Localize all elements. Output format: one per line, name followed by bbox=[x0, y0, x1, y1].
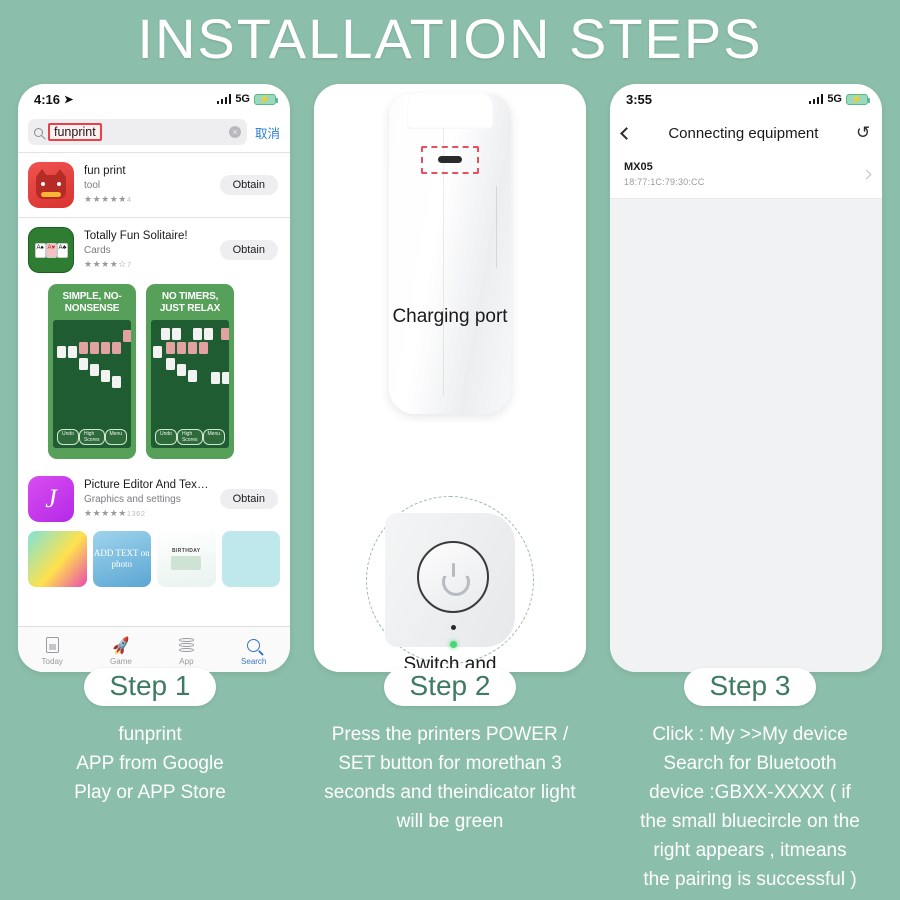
screenshot-button: Menu bbox=[203, 429, 226, 445]
power-button-highlight-circle bbox=[366, 496, 534, 664]
status-time: 3:55 bbox=[626, 92, 652, 107]
obtain-button[interactable]: Obtain bbox=[220, 489, 278, 509]
status-time: 4:16 bbox=[34, 92, 60, 107]
phone-screenshot-step1: 4:16 ➤ 5G ⚡ funprint × 取消 bbox=[18, 84, 290, 672]
step-column-3: Step 3 Click : My >>My device Search for… bbox=[600, 668, 900, 894]
preview-thumbnail[interactable]: BIRTHDAY bbox=[157, 531, 216, 587]
screenshot-button: Undo bbox=[57, 429, 79, 445]
app-subtitle: Graphics and settings bbox=[84, 493, 210, 507]
tab-today[interactable]: Today bbox=[42, 637, 63, 666]
status-bar-right: 5G ⚡ bbox=[809, 93, 868, 105]
charging-port-highlight-box bbox=[421, 146, 479, 174]
app-subtitle: Cards bbox=[84, 244, 210, 258]
rating-stars: ★★★★★4 bbox=[84, 193, 210, 206]
app-meta: Totally Fun Solitaire! Cards ★★★★☆7 bbox=[84, 229, 210, 271]
step-caption-1: funprint APP from Google Play or APP Sto… bbox=[5, 720, 295, 807]
list-item[interactable]: fun print tool ★★★★★4 Obtain bbox=[18, 153, 290, 217]
status-bar-right: 5G ⚡ bbox=[217, 93, 276, 105]
tab-game[interactable]: 🚀 Game bbox=[110, 637, 132, 666]
back-chevron-icon[interactable] bbox=[620, 127, 633, 140]
page-title: INSTALLATION STEPS bbox=[0, 6, 900, 71]
printer-side-seam bbox=[496, 186, 498, 268]
rocket-icon: 🚀 bbox=[110, 635, 131, 655]
power-icon bbox=[439, 563, 467, 591]
tab-label: Search bbox=[241, 657, 266, 666]
cancel-button[interactable]: 取消 bbox=[255, 123, 280, 142]
funprint-app-icon bbox=[28, 162, 74, 208]
tab-search[interactable]: Search bbox=[241, 637, 266, 666]
bluetooth-pairing-screen: Connecting equipment ↻ MX05 18:77:1C:79:… bbox=[610, 114, 882, 672]
search-query-value: funprint bbox=[48, 123, 102, 141]
tab-label: Game bbox=[110, 657, 132, 666]
signal-bars-icon bbox=[217, 94, 232, 104]
network-label: 5G bbox=[235, 93, 250, 105]
stack-icon bbox=[179, 637, 194, 654]
obtain-button[interactable]: Obtain bbox=[220, 175, 278, 195]
app-screenshot-previews: SIMPLE, NO-NONSENSE bbox=[18, 282, 290, 467]
rating-count: 1362 bbox=[127, 509, 146, 518]
nav-bar: Connecting equipment ↻ bbox=[610, 114, 882, 152]
status-bar: 3:55 5G ⚡ bbox=[610, 84, 882, 114]
tab-bar: Today 🚀 Game App Search bbox=[18, 626, 290, 672]
rating-stars: ★★★★★1362 bbox=[84, 507, 210, 520]
preview-thumbnail[interactable] bbox=[222, 531, 281, 587]
rating-count: 7 bbox=[127, 260, 132, 269]
status-bar-left: 4:16 ➤ bbox=[34, 92, 73, 107]
search-input[interactable]: funprint × bbox=[28, 119, 247, 145]
tab-app[interactable]: App bbox=[179, 637, 194, 666]
preview-thumbnail[interactable]: ADD TEXT on photo bbox=[93, 531, 152, 587]
signal-bars-icon bbox=[809, 94, 824, 104]
preview-thumbnail[interactable] bbox=[28, 531, 87, 587]
app-meta: Picture Editor And Text... Graphics and … bbox=[84, 478, 210, 520]
app-subtitle: tool bbox=[84, 179, 210, 193]
step-column-2: Step 2 Press the printers POWER / SET bu… bbox=[300, 668, 600, 894]
battery-charging-icon: ⚡ bbox=[254, 94, 276, 105]
step-badge-3: Step 3 bbox=[684, 668, 817, 706]
app-screenshot[interactable]: SIMPLE, NO-NONSENSE bbox=[48, 284, 136, 459]
nav-title: Connecting equipment bbox=[639, 125, 848, 142]
tab-label: Today bbox=[42, 657, 63, 666]
power-button[interactable] bbox=[417, 541, 489, 613]
app-name: Totally Fun Solitaire! bbox=[84, 229, 210, 244]
phone-screenshot-step3: 3:55 5G ⚡ Connecting equipment ↻ MX05 bbox=[610, 84, 882, 672]
chevron-right-icon bbox=[862, 170, 872, 180]
location-arrow-icon: ➤ bbox=[64, 93, 73, 106]
today-icon bbox=[46, 637, 59, 654]
power-indicator-led bbox=[450, 641, 457, 648]
screenshot-button: Menu bbox=[105, 429, 128, 445]
step-caption-3: Click : My >>My device Search for Blueto… bbox=[605, 720, 895, 894]
step-column-1: Step 1 funprint APP from Google Play or … bbox=[0, 668, 300, 894]
step-badge-1: Step 1 bbox=[84, 668, 217, 706]
battery-charging-icon: ⚡ bbox=[846, 94, 868, 105]
app-name: Picture Editor And Text... bbox=[84, 478, 210, 493]
printer-device-diagram: Charging port Switch and power indicator bbox=[314, 84, 586, 672]
app-name: fun print bbox=[84, 164, 210, 179]
printer-body bbox=[389, 94, 511, 414]
picture-editor-app-icon: J bbox=[28, 476, 74, 522]
screenshot-button: High Scores bbox=[79, 429, 105, 445]
device-mac-address: 18:77:1C:79:30:CC bbox=[624, 175, 863, 189]
rating-stars: ★★★★☆7 bbox=[84, 258, 210, 271]
obtain-button[interactable]: Obtain bbox=[220, 240, 278, 260]
screenshot-button: Undo bbox=[155, 429, 177, 445]
rating-count: 4 bbox=[127, 195, 132, 204]
screenshot-headline: SIMPLE, NO-NONSENSE bbox=[53, 291, 131, 315]
device-meta: MX05 18:77:1C:79:30:CC bbox=[624, 160, 863, 189]
reset-pinhole-icon bbox=[451, 625, 456, 630]
printer-top-cap bbox=[407, 93, 493, 129]
app-meta: fun print tool ★★★★★4 bbox=[84, 164, 210, 206]
screenshot-headline: NO TIMERS, JUST RELAX bbox=[151, 291, 229, 315]
preview-birthday-label: BIRTHDAY bbox=[172, 548, 201, 554]
phone-screenshot-step2: Charging port Switch and power indicator bbox=[314, 84, 586, 672]
tab-label: App bbox=[179, 657, 193, 666]
solitaire-app-icon: A♠A♥A♣ bbox=[28, 227, 74, 273]
search-icon bbox=[247, 637, 260, 654]
step-caption-2: Press the printers POWER / SET button fo… bbox=[305, 720, 595, 836]
solitaire-board: Undo High Scores Menu bbox=[151, 320, 229, 448]
installation-steps-infographic: INSTALLATION STEPS 4:16 ➤ 5G ⚡ bbox=[0, 0, 900, 900]
network-label: 5G bbox=[827, 93, 842, 105]
refresh-icon[interactable]: ↻ bbox=[856, 123, 870, 143]
search-icon bbox=[34, 128, 43, 137]
app-store-search-screen: funprint × 取消 fun print tool ★★★★★4 bbox=[18, 114, 290, 672]
list-item[interactable]: A♠A♥A♣ Totally Fun Solitaire! Cards ★★★★… bbox=[18, 218, 290, 282]
status-bar: 4:16 ➤ 5G ⚡ bbox=[18, 84, 290, 114]
app-preview-thumbnails: ADD TEXT on photo BIRTHDAY bbox=[18, 531, 290, 587]
screenshot-button: High Scores bbox=[177, 429, 203, 445]
clear-search-icon[interactable]: × bbox=[229, 126, 241, 138]
step-badge-2: Step 2 bbox=[384, 668, 517, 706]
step-captions-row: Step 1 funprint APP from Google Play or … bbox=[0, 668, 900, 894]
charging-port-label: Charging port bbox=[314, 306, 586, 328]
printer-side-panel bbox=[385, 513, 515, 647]
list-item[interactable]: J Picture Editor And Text... Graphics an… bbox=[18, 467, 290, 531]
search-row: funprint × 取消 bbox=[18, 114, 290, 152]
solitaire-board: Undo High Scores Menu bbox=[53, 320, 131, 448]
app-screenshot[interactable]: NO TIMERS, JUST RELAX bbox=[146, 284, 234, 459]
phone-cards-row: 4:16 ➤ 5G ⚡ funprint × 取消 bbox=[0, 84, 900, 674]
status-bar-left: 3:55 bbox=[626, 92, 652, 107]
device-name: MX05 bbox=[624, 160, 863, 175]
list-item[interactable]: MX05 18:77:1C:79:30:CC bbox=[610, 152, 882, 199]
